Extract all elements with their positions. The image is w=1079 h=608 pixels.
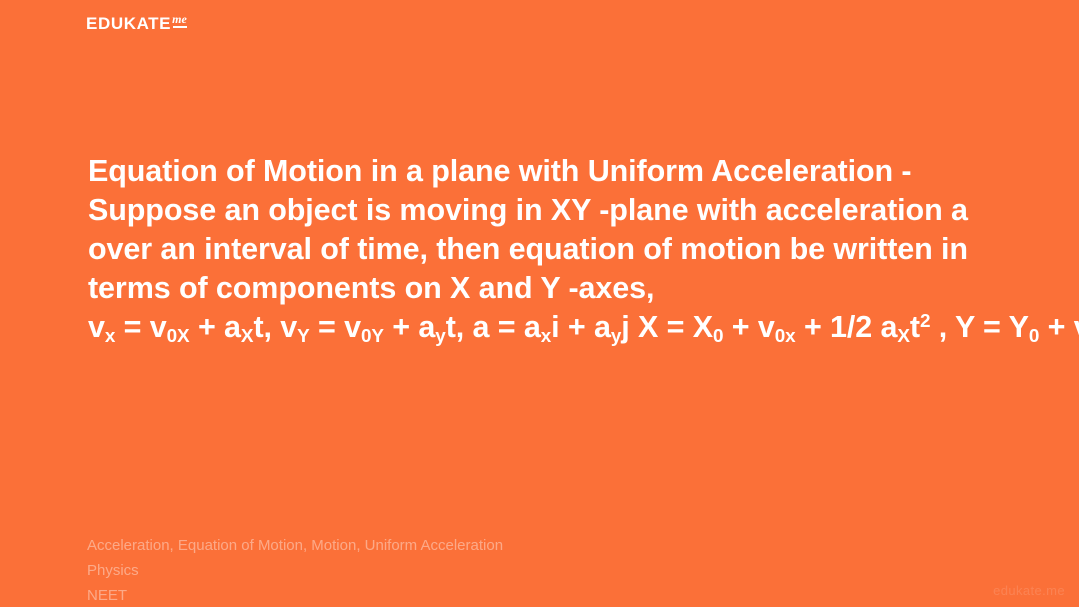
formula-v0x-base: v	[150, 310, 167, 344]
brand-logo[interactable]: EDUKATE me	[86, 15, 187, 32]
formula-vy-subscript: Y	[297, 326, 310, 347]
formula-Y-position: Y = Y0 + v0Y + 1/2 aYt2.	[955, 310, 1079, 344]
formula-vy-equals: =	[310, 310, 344, 344]
formula-v0x-subscript: 0X	[167, 326, 190, 347]
brand-logo-word: EDUKATE	[86, 15, 171, 32]
formula-X-t-base: t	[910, 310, 920, 344]
formula-a-i-unit: i +	[551, 310, 594, 344]
corner-watermark: edukate.me	[993, 583, 1065, 598]
formula-X0-subscript: 0	[713, 326, 723, 347]
formula-v0y-subscript: 0Y	[361, 326, 384, 347]
formula-vy-base: v	[280, 310, 297, 344]
formula-a-y-base: a	[594, 310, 611, 344]
formula-vx-subscript: x	[105, 326, 115, 347]
formula-X-base: X = X	[638, 310, 713, 344]
formula-X-a-base: a	[881, 310, 898, 344]
formula-a-j-unit: j	[621, 310, 638, 344]
formula-a-x-subscript: x	[541, 326, 551, 347]
formula-a-y-subscript: y	[611, 326, 621, 347]
formula-ax-time: t,	[253, 310, 280, 344]
formula-X-plus: +	[723, 310, 757, 344]
brand-logo-suffix-wrap: me	[172, 13, 187, 28]
formula-Y-plus: +	[1039, 310, 1073, 344]
formula-X-a-subscript: X	[897, 326, 910, 347]
formula-vx-equals: =	[115, 310, 149, 344]
formula-vy: vY = v0Y + ayt,	[280, 310, 472, 344]
formula-X-t-superscript: 2	[920, 311, 930, 332]
formula-a-x-base: a	[524, 310, 541, 344]
formula-vx-base: v	[88, 310, 105, 344]
slide-body-text: Equation of Motion in a plane with Unifo…	[88, 152, 996, 347]
formula-vy-plus: +	[384, 310, 418, 344]
footer-tags[interactable]: Acceleration, Equation of Motion, Motion…	[87, 533, 503, 558]
formula-X-position-head: X = X0 +	[638, 310, 758, 344]
slide-footer: Acceleration, Equation of Motion, Motion…	[87, 533, 503, 608]
formula-X-v0x-base: v	[758, 310, 775, 344]
formula-Y-base: Y = Y	[955, 310, 1029, 344]
formula-v0y-base: v	[344, 310, 361, 344]
formula-ay-subscript: y	[435, 326, 445, 347]
slide-canvas: EDUKATE me Equation of Motion in a plane…	[0, 0, 1079, 607]
formula-ay-time: t,	[446, 310, 473, 344]
formula-Y0-subscript: 0	[1029, 326, 1039, 347]
formula-Y-v0y-base: v	[1074, 310, 1079, 344]
formula-vx: vx = v0X + aXt,	[88, 310, 280, 344]
formula-vx-plus: +	[190, 310, 224, 344]
formula-X-half: + 1/2	[796, 310, 881, 344]
brand-logo-underline	[173, 26, 187, 28]
formula-ay-base: a	[418, 310, 435, 344]
footer-exam[interactable]: NEET	[87, 583, 503, 608]
formula-ax-subscript: X	[241, 326, 254, 347]
formula-a-vector: a = axi + ayj	[473, 310, 639, 344]
formula-X-v0x-subscript: 0x	[775, 326, 796, 347]
brand-logo-suffix: me	[172, 13, 187, 25]
formula-ax-base: a	[224, 310, 241, 344]
body-intro-text: Equation of Motion in a plane with Unifo…	[88, 154, 968, 305]
formula-X-comma: ,	[930, 310, 955, 344]
formula-X-position-tail: v0x + 1/2 aXt2 ,	[758, 310, 955, 344]
footer-subject[interactable]: Physics	[87, 558, 503, 583]
formula-a-equals: a =	[473, 310, 524, 344]
